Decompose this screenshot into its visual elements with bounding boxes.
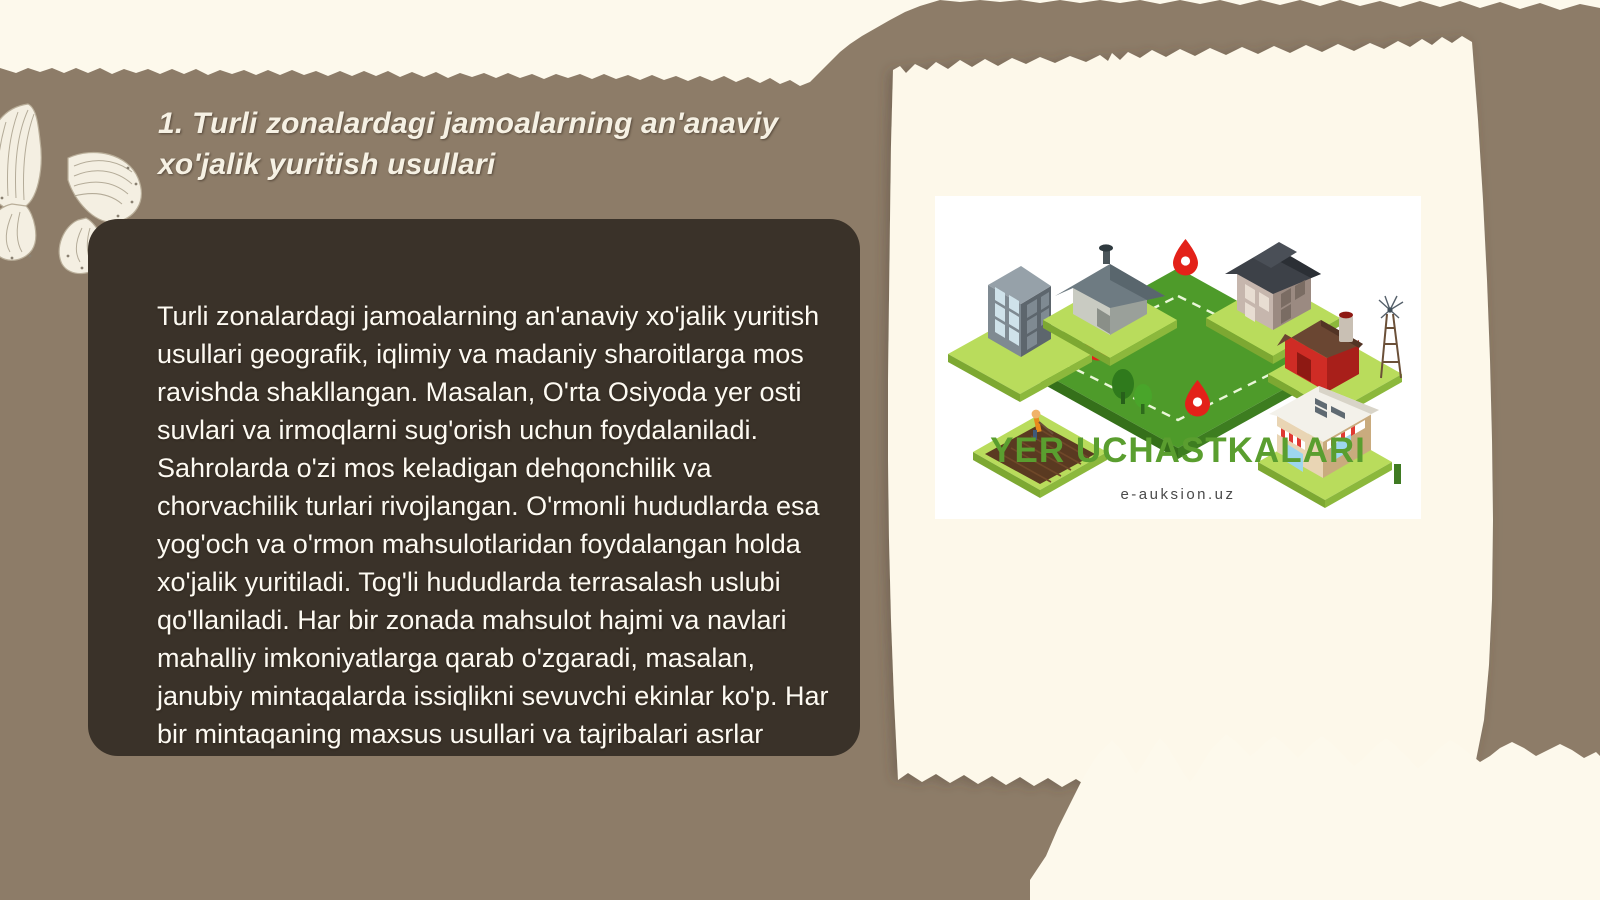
illustration-card: YER UCHASTKALARI e-auksion.uz xyxy=(935,196,1421,519)
slide-canvas: 1. Turli zonalardagi jamoalarning an'ana… xyxy=(0,0,1600,900)
page-title: 1. Turli zonalardagi jamoalarning an'ana… xyxy=(158,104,858,186)
paper-torn-top xyxy=(0,0,1600,120)
illustration-caption-main: YER UCHASTKALARI xyxy=(935,431,1421,471)
body-paragraph: Turli zonalardagi jamoalarning an'anaviy… xyxy=(157,297,829,753)
illustration-caption-sub: e-auksion.uz xyxy=(935,486,1421,503)
